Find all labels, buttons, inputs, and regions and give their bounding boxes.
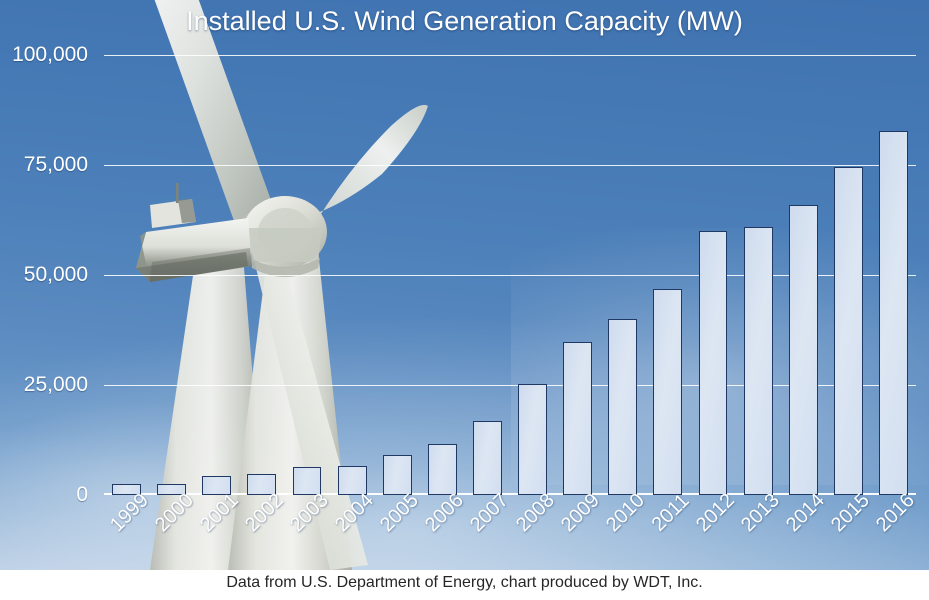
x-slot: 2003 [284,499,329,569]
footer-strip: Data from U.S. Department of Energy, cha… [0,570,929,600]
x-slot: 2004 [330,499,375,569]
y-tick-label: 0 [76,483,88,507]
y-tick-label: 100,000 [12,43,88,67]
x-slot: 2001 [194,499,239,569]
chart-title: Installed U.S. Wind Generation Capacity … [0,6,929,37]
bar-slot [510,55,555,495]
bar-slot [645,55,690,495]
bar [518,384,547,495]
x-slot: 2016 [871,499,916,569]
x-slot: 2010 [600,499,645,569]
x-slot: 2002 [239,499,284,569]
bar [744,227,773,495]
x-slot: 1999 [104,499,149,569]
x-slot: 2000 [149,499,194,569]
bar-slot [736,55,781,495]
x-slot: 2007 [465,499,510,569]
bar-slot [330,55,375,495]
bar-slot [781,55,826,495]
x-slot: 2005 [375,499,420,569]
y-tick-label: 50,000 [24,263,88,287]
bar-slot [420,55,465,495]
x-slot: 2006 [420,499,465,569]
bar-slot [826,55,871,495]
x-axis-labels: 1999200020012002200320042005200620072008… [104,499,916,569]
bar-series [104,55,916,495]
bar-slot [239,55,284,495]
wind-capacity-chart: Installed U.S. Wind Generation Capacity … [0,0,929,600]
x-slot: 2015 [826,499,871,569]
x-slot: 2011 [645,499,690,569]
bar-slot [465,55,510,495]
x-slot: 2014 [781,499,826,569]
bar-slot [149,55,194,495]
bar [699,231,728,495]
bar-slot [600,55,645,495]
bar-slot [284,55,329,495]
bar-slot [375,55,420,495]
bar [879,131,908,495]
bar-slot [104,55,149,495]
bar [563,342,592,495]
bar [428,444,457,495]
y-tick-label: 25,000 [24,373,88,397]
bar-slot [194,55,239,495]
bar-slot [690,55,735,495]
bar [473,421,502,495]
x-slot: 2013 [736,499,781,569]
bar-slot [555,55,600,495]
source-note: Data from U.S. Department of Energy, cha… [0,574,929,592]
bar [653,289,682,495]
x-slot: 2012 [690,499,735,569]
plot-area: 100,000 75,000 50,000 25,000 0 [104,55,916,495]
x-slot: 2008 [510,499,555,569]
bar-slot [871,55,916,495]
y-tick-label: 75,000 [24,153,88,177]
bar [789,205,818,495]
bar [834,167,863,495]
x-slot: 2009 [555,499,600,569]
bar [608,319,637,495]
